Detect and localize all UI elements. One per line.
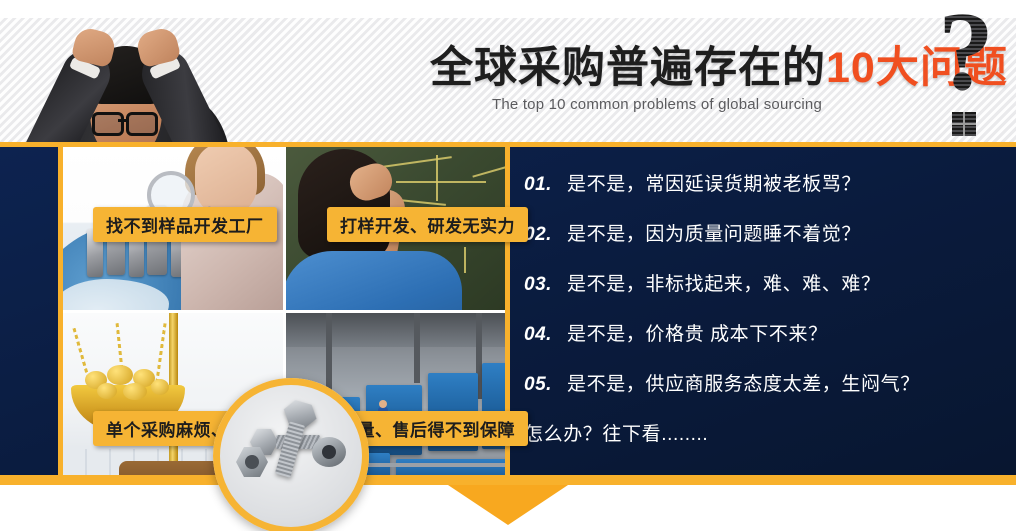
list-item: 05. 是不是，供应商服务态度太差，生闷气？: [524, 369, 994, 396]
list-item-text: 是不是，供应商服务态度太差，生闷气？: [567, 369, 920, 396]
list-item: 04. 是不是，价格贵 成本下不来？: [524, 319, 994, 346]
fastener-photo: [213, 378, 369, 531]
list-item-text: 是不是，常因延误货期被老板骂？: [567, 169, 861, 196]
content-band: 01. 是不是，常因延误货期被老板骂？ 02. 是不是，因为质量问题睡不着觉？ …: [0, 142, 1016, 480]
problems-list: 01. 是不是，常因延误货期被老板骂？ 02. 是不是，因为质量问题睡不着觉？ …: [524, 169, 994, 446]
question-mark-dot: [952, 112, 976, 136]
list-footer-text: 怎么办？往下看........: [524, 419, 994, 446]
down-chevron-icon: [448, 485, 568, 525]
list-item: 02. 是不是，因为质量问题睡不着觉？: [524, 219, 994, 246]
list-item-text: 是不是，非标找起来，难、难、难？: [567, 269, 881, 296]
question-mark-icon: ?: [938, 18, 1006, 130]
bottom-gold-bar: [0, 475, 1016, 485]
list-item-number: 04.: [524, 324, 557, 346]
fastener-badge: [213, 378, 369, 531]
list-item: 03. 是不是，非标找起来，难、难、难？: [524, 269, 994, 296]
list-item-text: 是不是，价格贵 成本下不来？: [567, 319, 828, 346]
list-item: 01. 是不是，常因延误货期被老板骂？: [524, 169, 994, 196]
banner-root: 全球采购普遍存在的10大问题 The top 10 common problem…: [0, 0, 1016, 531]
page-title: 全球采购普遍存在的10大问题 The top 10 common problem…: [430, 42, 950, 132]
title-main-text: 全球采购普遍存在的: [430, 44, 826, 92]
title-line: 全球采购普遍存在的10大问题: [430, 42, 950, 94]
list-item-text: 是不是，因为质量问题睡不着觉？: [567, 219, 861, 246]
list-item-number: 03.: [524, 274, 557, 296]
question-mark-glyph: ?: [938, 2, 994, 102]
list-item-number: 05.: [524, 374, 557, 396]
title-subtitle: The top 10 common problems of global sou…: [492, 96, 950, 113]
list-item-number: 02.: [524, 224, 557, 246]
list-item-number: 01.: [524, 174, 557, 196]
collage-label-2: 打样开发、研发无实力: [327, 207, 528, 242]
collage-label-1: 找不到样品开发工厂: [93, 207, 277, 242]
